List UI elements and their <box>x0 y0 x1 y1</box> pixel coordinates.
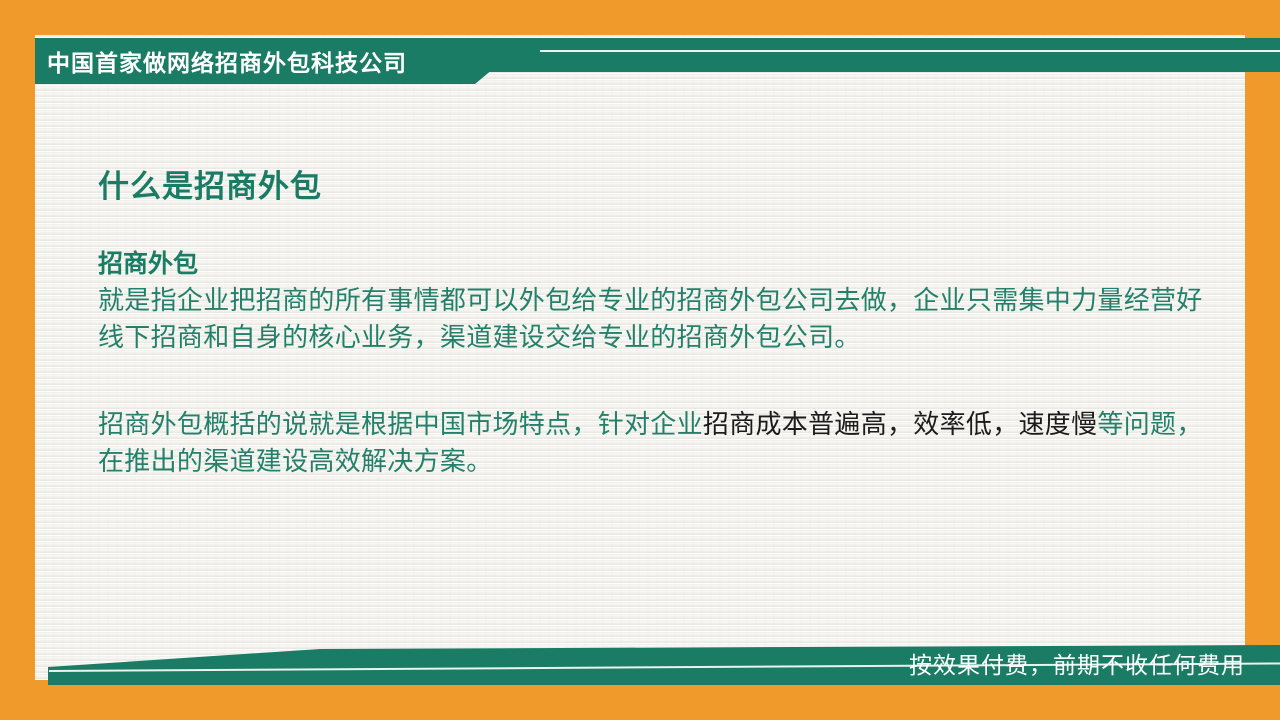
slide-footer: 按效果付费，前期不收任何费用 <box>35 637 1280 685</box>
slide-header: 中国首家做网络招商外包科技公司 <box>35 38 1280 84</box>
header-company-label: 中国首家做网络招商外包科技公司 <box>47 44 407 78</box>
slide-content: 什么是招商外包 招商外包 就是指企业把招商的所有事情都可以外包给专业的招商外包公… <box>98 168 1223 480</box>
summary-text-part-1: 招商外包概括的说就是根据中国市场特点，针对企业 <box>98 409 703 439</box>
footer-tagline: 按效果付费，前期不收任何费用 <box>909 646 1245 680</box>
definition-paragraph: 就是指企业把招商的所有事情都可以外包给专业的招商外包公司去做，企业只需集中力量经… <box>98 282 1223 356</box>
page-title: 什么是招商外包 <box>98 168 1223 205</box>
header-hairline-decoration <box>540 50 1280 52</box>
term-label: 招商外包 <box>98 249 1223 280</box>
summary-text-highlight: 招商成本普遍高，效率低，速度慢 <box>703 409 1098 439</box>
presentation-slide: 中国首家做网络招商外包科技公司 什么是招商外包 招商外包 就是指企业把招商的所有… <box>0 0 1280 720</box>
header-company-tab: 中国首家做网络招商外包科技公司 <box>35 38 530 84</box>
summary-paragraph: 招商外包概括的说就是根据中国市场特点，针对企业招商成本普遍高，效率低，速度慢等问… <box>98 406 1223 480</box>
